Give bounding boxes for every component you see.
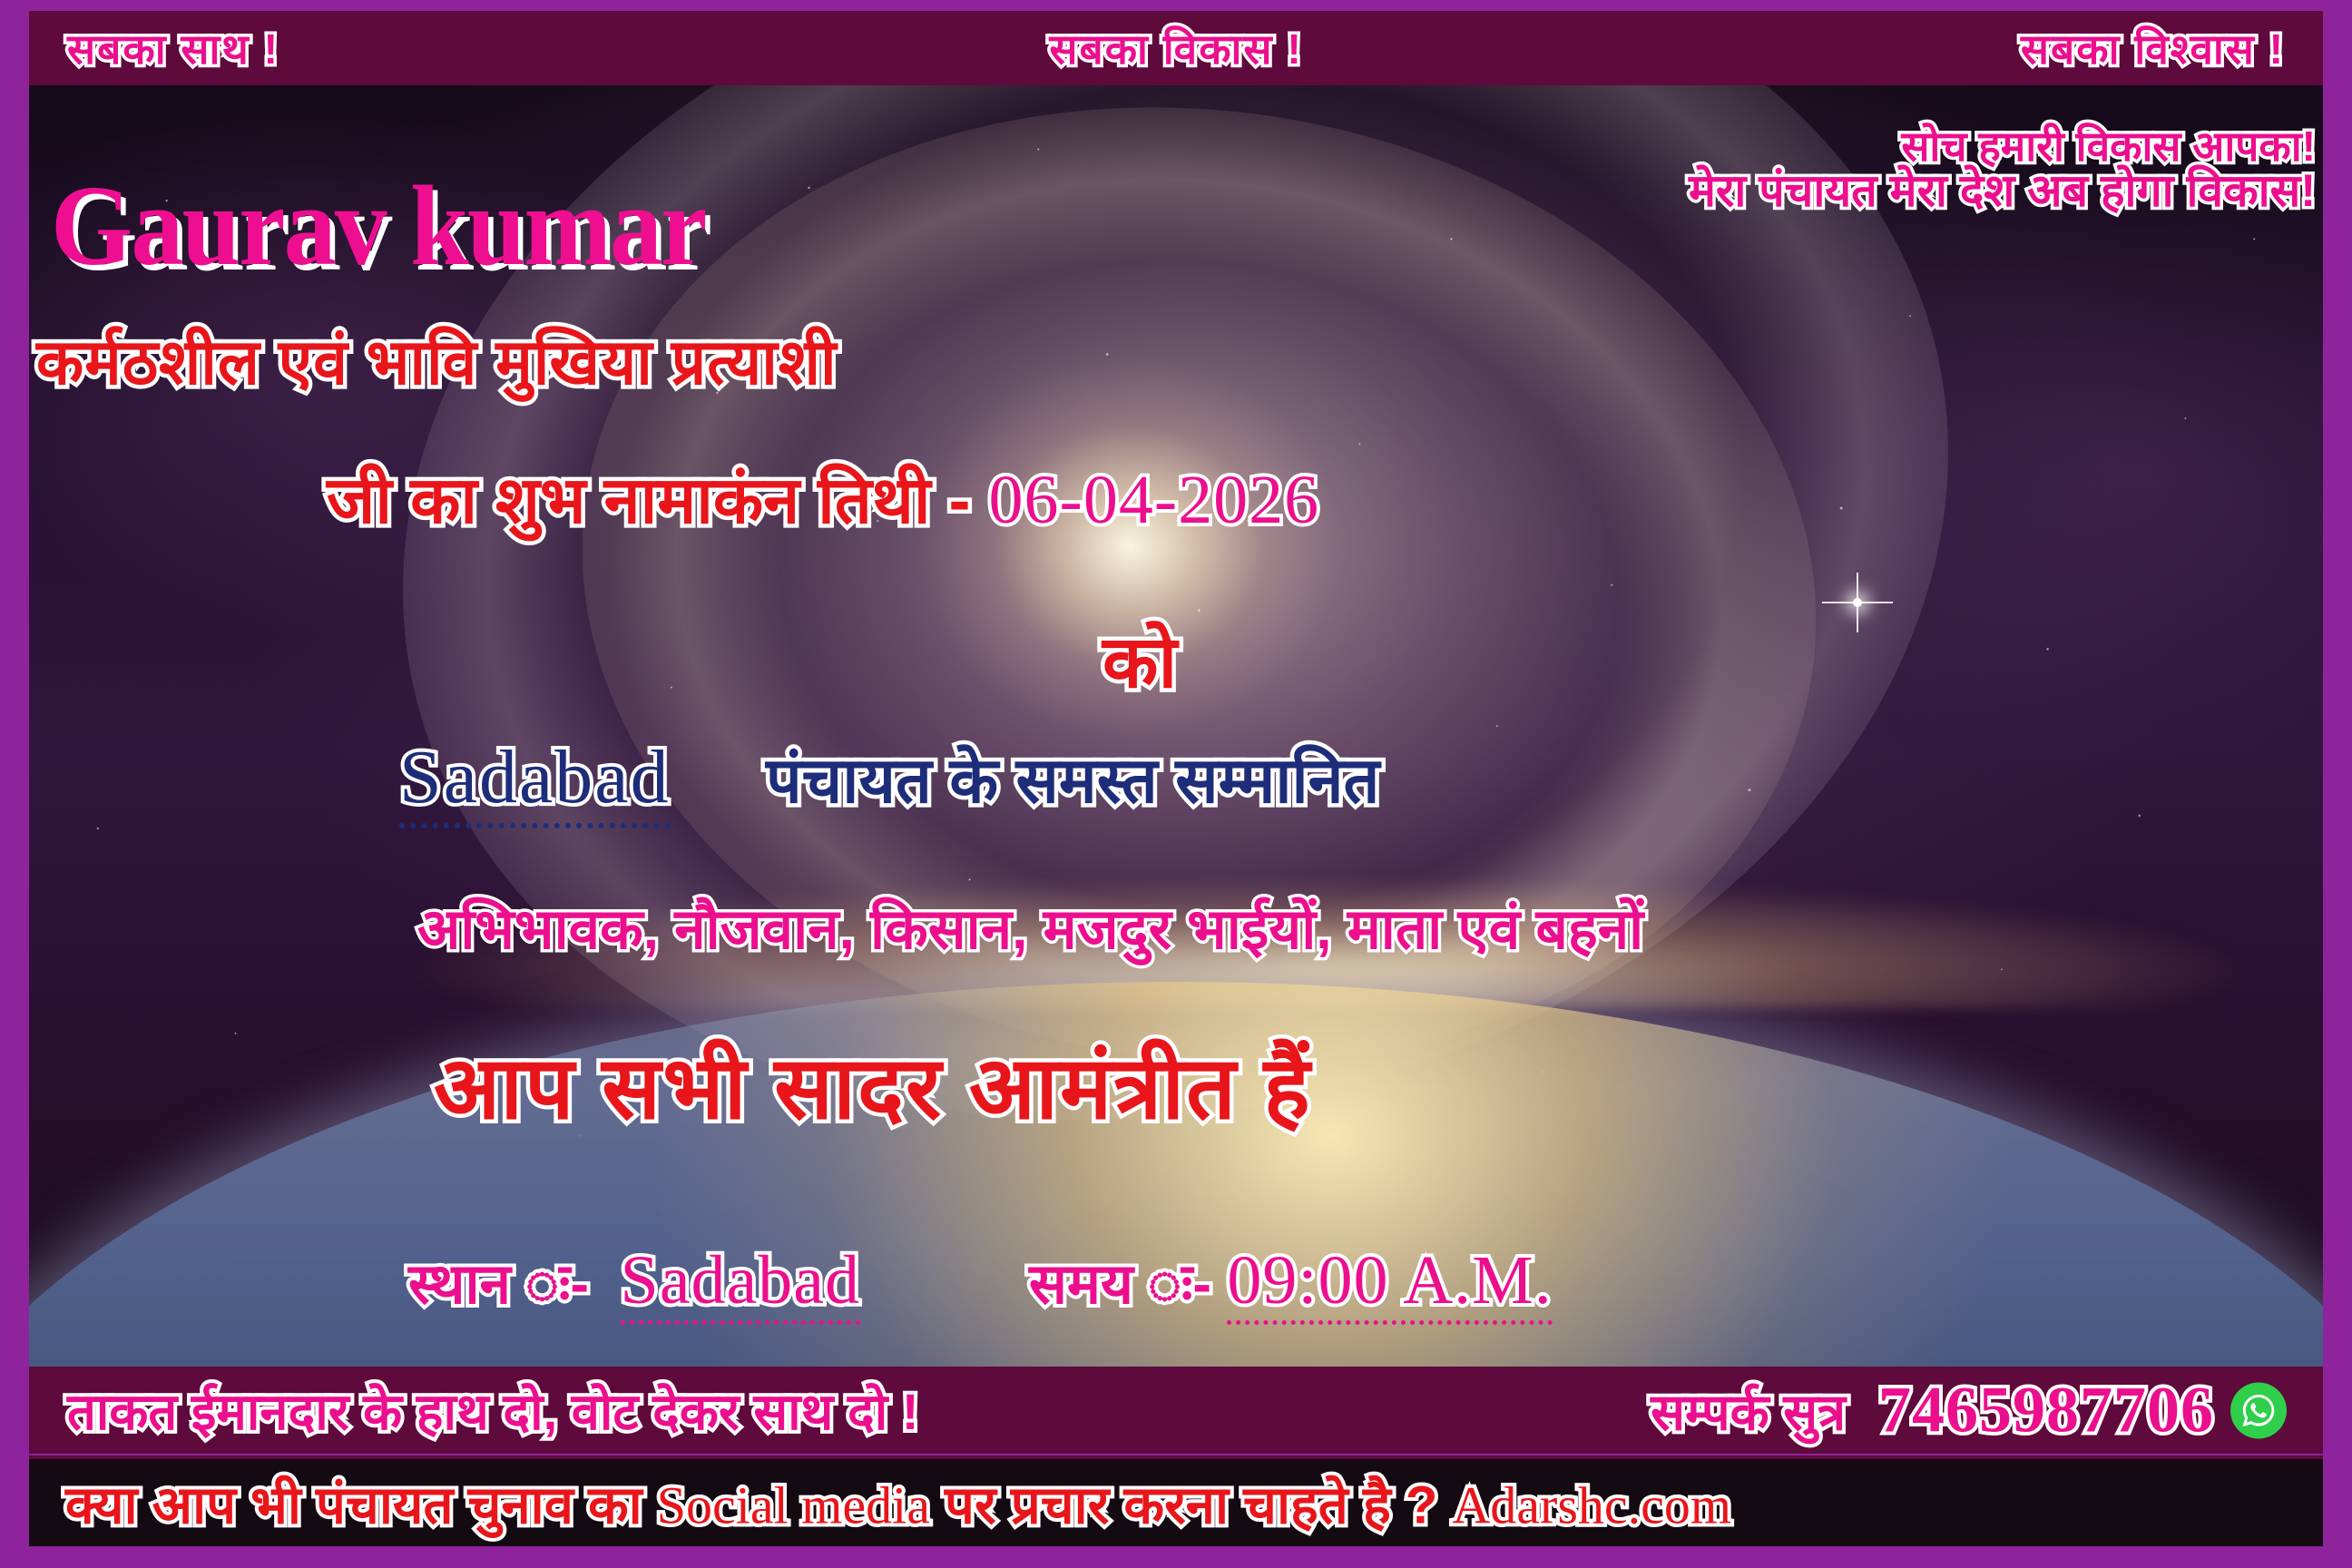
panchayat-text: पंचायत के समस्त सम्मानित (766, 745, 1379, 816)
candidate-role-subtitle: कर्मठशील एवं भावि मुखिया प्रत्याशी (36, 316, 838, 403)
ko-connector-word: को (1102, 610, 1177, 709)
top-slogan-left: सबका साथ ! (67, 20, 279, 76)
election-poster: सबका साथ ! सबका विकास ! सबका विश्वास ! G… (0, 0, 2352, 1568)
promo-website-link[interactable]: Adarshc.com (1452, 1476, 1731, 1535)
contact-group[interactable]: सम्पर्क सुत्र 7465987706 (1651, 1373, 2287, 1448)
time-label: समय ः- (1029, 1244, 1211, 1320)
header-slogan-line-1: सोच हमारी विकास आपका! (1689, 125, 2316, 168)
venue-label: स्थान ः- (408, 1244, 589, 1320)
whatsapp-icon[interactable] (2230, 1382, 2287, 1438)
nomination-date-line: जी का शुभ नामाकंन तिथी - 06-04-2026 (327, 454, 1319, 543)
panchayat-line: Sadabad पंचायत के समस्त सम्मानित (399, 733, 1379, 821)
page-title: Gaurav kumar (51, 162, 706, 292)
venue-and-time-line: स्थान ः- Sadabad समय ः- 09:00 A.M. (408, 1241, 1553, 1325)
nomination-date-label: जी का शुभ नामाकंन तिथी - (327, 465, 971, 537)
header-slogan-block: सोच हमारी विकास आपका! मेरा पंचायत मेरा द… (1689, 125, 2316, 214)
promo-social-media-label: Social media (657, 1476, 930, 1535)
time-value: 09:00 A.M. (1227, 1241, 1552, 1325)
nomination-date-value: 06-04-2026 (989, 462, 1320, 538)
top-slogan-center: सबका विकास ! (1049, 20, 1302, 76)
promo-hindi-part-1: क्या आप भी पंचायत चुनाव का (65, 1476, 657, 1535)
venue-value: Sadabad (621, 1241, 860, 1325)
header-slogan-line-2: मेरा पंचायत मेरा देश अब होगा विकास! (1689, 168, 2316, 214)
promo-hindi-part-2: पर प्रचार करना चाहते है ? (930, 1476, 1452, 1535)
promo-text[interactable]: क्या आप भी पंचायत चुनाव का Social media … (65, 1467, 1731, 1539)
invitation-headline: आप सभी सादर आमंत्रीत हैं (434, 1025, 1312, 1144)
contact-label: सम्पर्क सुत्र (1651, 1376, 1846, 1445)
contact-bar: ताकत ईमानदार के हाथ दो, वोट देकर साथ दो … (29, 1367, 2323, 1454)
vote-slogan: ताकत ईमानदार के हाथ दो, वोट देकर साथ दो … (67, 1376, 918, 1445)
poster-text-layer: Gaurav kumar कर्मठशील एवं भावि मुखिया प्… (0, 0, 2352, 1568)
village-name: Sadabad (399, 735, 671, 828)
top-slogan-bar: सबका साथ ! सबका विकास ! सबका विश्वास ! (29, 11, 2323, 85)
audience-list: अभिभावक, नौजवान, किसान, मजदुर भाईयों, मा… (417, 889, 1643, 965)
top-slogan-right: सबका विश्वास ! (2021, 20, 2285, 76)
promo-bar: क्या आप भी पंचायत चुनाव का Social media … (29, 1455, 2323, 1546)
contact-phone-number[interactable]: 7465987706 (1878, 1373, 2214, 1448)
